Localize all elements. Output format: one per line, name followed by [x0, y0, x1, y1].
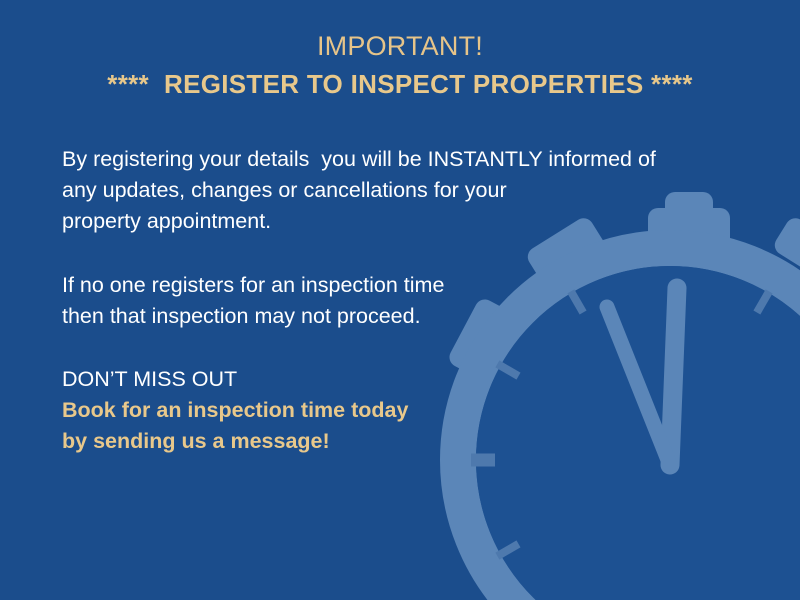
headline-block: IMPORTANT! **** REGISTER TO INSPECT PROP… — [0, 28, 800, 104]
headline-primary: IMPORTANT! — [0, 28, 800, 64]
call-to-action-block: DON’T MISS OUT Book for an inspection ti… — [62, 364, 408, 457]
promotional-slide: IMPORTANT! **** REGISTER TO INSPECT PROP… — [0, 0, 800, 600]
slide-text-layer: IMPORTANT! **** REGISTER TO INSPECT PROP… — [0, 0, 800, 600]
cta-line-one: Book for an inspection time today — [62, 395, 408, 426]
cta-line-two: by sending us a message! — [62, 426, 408, 457]
body-paragraph-two: If no one registers for an inspection ti… — [62, 270, 582, 332]
body-paragraph-one: By registering your details you will be … — [62, 144, 722, 237]
cta-lead-line: DON’T MISS OUT — [62, 364, 408, 395]
headline-secondary: **** REGISTER TO INSPECT PROPERTIES **** — [0, 64, 800, 104]
